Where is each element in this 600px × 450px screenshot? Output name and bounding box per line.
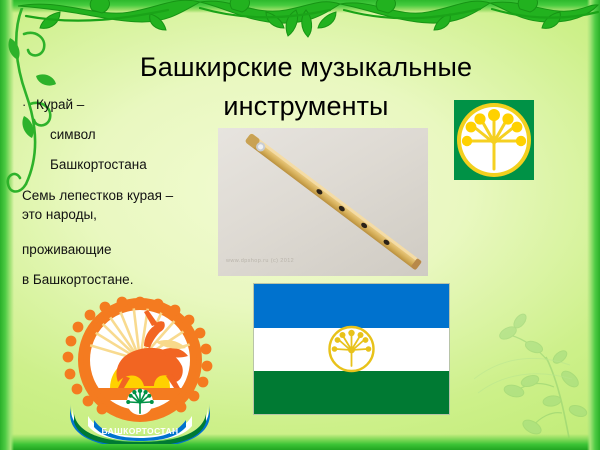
bullet-line-1: Курай – [36,90,84,120]
bullet-line-2: символ [50,120,227,150]
leaf-sprig-icon [474,261,594,446]
bashkortostan-flag [253,283,450,415]
flag-kurai-emblem [330,327,374,371]
paragraph-line-2: это народы, [22,205,227,224]
body-text-block: · Курай – символ Башкортостана Семь лепе… [22,90,227,295]
bullet-dot-icon: · [22,90,36,120]
kurai-emblem [452,99,540,183]
bashkortostan-coat-of-arms: БАШКОРТОСТАН [48,296,233,444]
kurai-flute-icon [218,132,428,272]
frame-right-edge [587,0,600,450]
coat-ribbon-text: БАШКОРТОСТАН [101,426,178,436]
bullet-line-3: Башкортостана [50,150,227,180]
paragraph-line-3: проживающие [22,235,227,265]
kurai-flute-photo: www.dpshop.ru (c) 2012 [218,128,428,276]
bullet-list-item: · Курай – [22,90,227,120]
paragraph-line-1: Семь лепестков курая – [22,186,227,205]
vine-ornament-icon [0,0,600,44]
slide-canvas: Башкирские музыкальные инструменты · Кур… [0,0,600,450]
paragraph-line-4: в Башкортостане. [22,265,227,295]
title-line-1: Башкирские музыкальные [78,48,534,87]
paragraph-block: Семь лепестков курая – это народы, прожи… [22,186,227,295]
photo-watermark: www.dpshop.ru (c) 2012 [226,258,294,264]
